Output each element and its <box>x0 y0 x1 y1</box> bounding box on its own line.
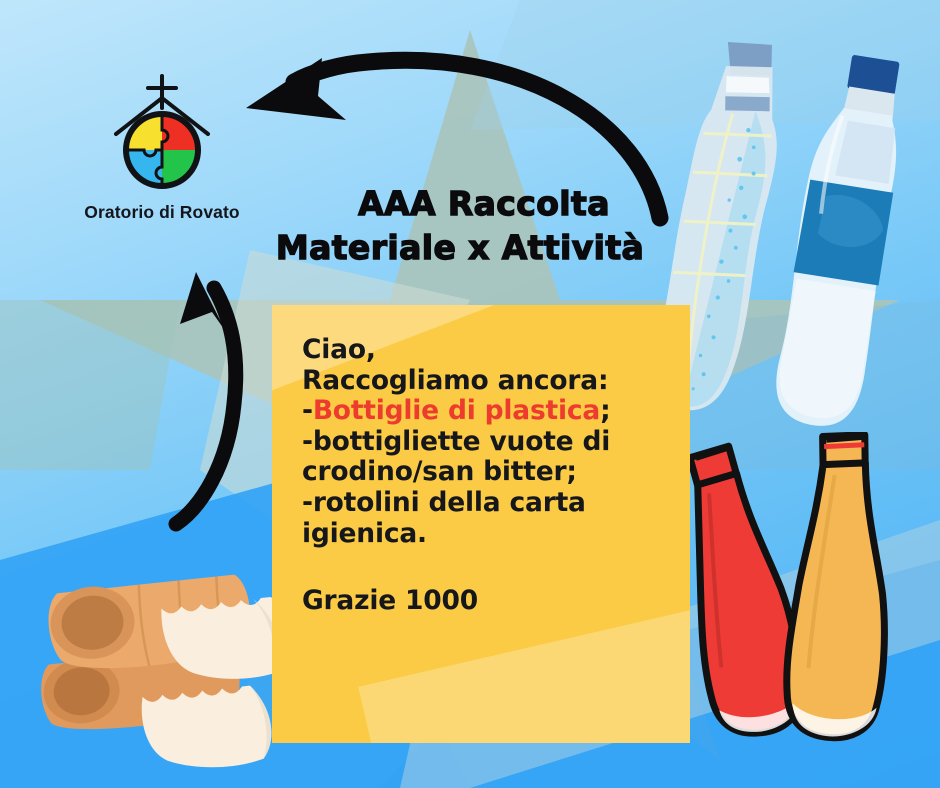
card-item-2: crodino/san bitter; <box>302 457 690 488</box>
card-item-1: -bottigliette vuote di <box>302 427 690 458</box>
card-item-1-text: bottigliette vuote di <box>313 426 610 457</box>
card-item-3: -rotolini della carta <box>302 488 690 519</box>
poster-canvas: Oratorio di Rovato AAA Raccolta Material… <box>0 0 940 788</box>
card-item-2-text: crodino/san bitter; <box>302 456 577 487</box>
card-item-0-text: Bottiglie di plastica <box>313 395 600 426</box>
page-title: AAA Raccolta Materiale x Attività <box>258 182 658 270</box>
church-puzzle-logo-icon <box>102 68 222 198</box>
message-card: Ciao, Raccogliamo ancora: -Bottiglie di … <box>272 305 690 743</box>
card-item-3-text: rotolini della carta <box>313 487 586 518</box>
card-item-4: igienica. <box>302 519 690 550</box>
headline-line-2: Materiale x Attività <box>258 226 658 270</box>
card-item-0: -Bottiglie di plastica; <box>302 396 690 427</box>
headline-line-1: AAA Raccolta <box>258 182 658 226</box>
logo-caption: Oratorio di Rovato <box>62 202 262 223</box>
card-greeting: Ciao, <box>302 335 690 366</box>
crodino-san-bitter-bottles-illustration <box>666 432 938 764</box>
oratorio-logo-block: Oratorio di Rovato <box>62 68 262 223</box>
card-body: Ciao, Raccogliamo ancora: -Bottiglie di … <box>272 305 690 549</box>
card-intro: Raccogliamo ancora: <box>302 366 690 397</box>
card-item-4-text: igienica. <box>302 518 427 549</box>
card-thanks: Grazie 1000 <box>272 585 690 616</box>
